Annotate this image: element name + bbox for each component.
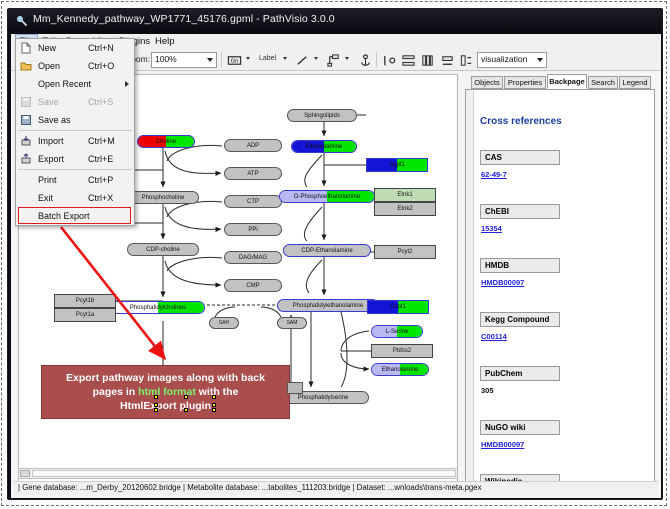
pathway-node-phosphatidylcholines[interactable]: Phosphatidylcholines [111,301,205,314]
pathway-node-pcyt2[interactable]: Pcyt2 [374,245,436,259]
common-width-icon[interactable] [419,52,436,69]
callout-line-2a: pages in [93,386,139,398]
pathway-node-l-serine[interactable]: L-Serine [371,325,423,338]
xref-label-text: HMDB [485,261,509,270]
file-menu-item-accelerator: Ctrl+X [88,193,113,203]
pathway-node-sgpl1[interactable]: Sgpl1 [366,158,428,172]
file-menu-item-accelerator: Ctrl+M [88,136,115,146]
batch-export-highlight [18,207,131,224]
distribute-icon[interactable] [400,52,417,69]
pathway-node-sphingolipids[interactable]: Sphingolipids [287,109,357,122]
pathway-node-label: Ethanolamine [306,144,343,150]
selection-handle[interactable] [184,395,188,399]
pathway-node-cmp[interactable]: CMP [224,279,282,292]
xref-label-cas: CAS [480,150,560,165]
chevron-down-icon [207,58,213,62]
export-icon [20,153,32,165]
pathway-node-dag-mag[interactable]: DAG/MAG [224,251,282,264]
screenshot-root: Mm_Kennedy_pathway_WP1771_45176.gpml - P… [0,0,670,509]
pathway-node-label: Phosphatidylethanolamine [293,303,363,309]
pathway-node-label: Pcyt1a [76,312,94,318]
title-bar: Mm_Kennedy_pathway_WP1771_45176.gpml - P… [8,9,663,33]
file-menu-item-label: Import [38,136,64,146]
selection-handle[interactable] [154,403,158,407]
pathway-node-label: Sgpl1 [389,162,404,168]
backpage-scrollbar[interactable] [466,90,474,488]
pathway-node-label: CDP-Ethanolamine [301,248,352,254]
label-dropdown-icon[interactable] [283,57,287,60]
pathway-node-choline-top[interactable]: Choline [137,135,195,148]
pathway-node-label: Phosphatidylcholines [130,305,186,311]
open-folder-icon [20,60,32,72]
callout-line-3: HtmlExport plugin [120,400,211,412]
pathway-node-adp[interactable]: ADP [224,139,282,152]
file-menu-item-accelerator: Ctrl+E [88,154,113,164]
file-menu-item-open[interactable]: OpenCtrl+O [16,57,134,75]
side-panel: Objects Properties Backpage Search Legen… [462,74,658,490]
pathway-node-ctp[interactable]: CTP [224,195,282,208]
pathway-node-label: PPi [248,227,257,233]
selection-handle[interactable] [154,408,158,412]
file-menu-item-print[interactable]: PrintCtrl+P [16,171,134,189]
canvas-hscrollbar-track[interactable] [32,470,456,477]
annotation-callout: Export pathway images along with back pa… [41,365,290,419]
pathway-node-etnk2[interactable]: Etnk2 [374,202,436,216]
pathway-node-label: Pcyt2 [397,249,412,255]
canvas-hscrollbar-thumb[interactable] [20,470,30,477]
pathway-node-label: Ptdss2 [393,348,411,354]
zoom-value: 100% [155,54,177,64]
file-menu-dropdown[interactable]: NewCtrl+NOpenCtrl+OOpen RecentSaveCtrl+S… [15,38,135,226]
file-menu-item-export[interactable]: ExportCtrl+E [16,150,134,168]
new-file-icon [20,42,32,54]
toolbar-separator-4 [376,52,377,67]
gene-product-dropdown-icon[interactable] [246,57,250,60]
pathway-node-phosphocholine[interactable]: Phosphocholine [127,191,199,204]
pathway-node-label: Phosphocholine [142,195,185,201]
canvas-hscrollbar[interactable] [18,468,458,479]
file-menu-item-save-as[interactable]: Save as [16,111,134,129]
file-menu-item-accelerator: Ctrl+O [88,61,114,71]
pathway-node-label: Cept1 [390,304,406,310]
gene-product-icon[interactable]: Gn [226,52,243,69]
file-menu-item-label: Save [38,97,59,107]
selection-handle[interactable] [154,395,158,399]
toolbar-separator-3 [221,52,222,67]
group-icon[interactable] [458,52,475,69]
anchor-icon[interactable] [357,52,374,69]
xref-label-text: ChEBI [485,207,509,216]
label-button[interactable]: Label [259,55,276,62]
visualization-combo[interactable]: visualization [477,52,547,68]
xref-label-kegg-compound: Kegg Compound [480,312,560,327]
xref-value-hmdb[interactable]: HMDB00097 [481,278,524,287]
pathway-node-label: Phosphatidylserine [298,395,349,401]
pathway-node-label: SAM [287,321,298,326]
svg-text:Gn: Gn [231,59,238,65]
submenu-arrow-icon [125,81,129,87]
callout-line-2b: with the [196,386,239,398]
file-menu-item-label: New [38,43,56,53]
save-as-icon [20,114,32,126]
xref-value-chebi[interactable]: 15354 [481,224,502,233]
chevron-down-icon [537,58,543,62]
callout-anchor-box [287,382,303,394]
file-menu-item-label: Open Recent [38,79,91,89]
interaction-dropdown-icon[interactable] [345,57,349,60]
zoom-combo[interactable]: 100% [151,52,217,68]
xref-label-chebi: ChEBI [480,204,560,219]
xref-label-hmdb: HMDB [480,258,560,273]
pathway-node-label: Choline [156,139,176,145]
file-menu-item-label: Save as [38,115,71,125]
pathvisio-window: Mm_Kennedy_pathway_WP1771_45176.gpml - P… [7,8,663,500]
file-menu-item-label: Open [38,61,60,71]
annotation-callout-text: Export pathway images along with back pa… [61,371,270,413]
file-menu-item-accelerator: Ctrl+S [88,97,113,107]
xref-label-pubchem: PubChem [480,366,560,381]
selection-handle[interactable] [212,408,216,412]
visualization-value: visualization [481,54,527,64]
tab-objects[interactable]: Objects [471,76,503,89]
file-menu-item-label: Exit [38,193,53,203]
pathway-node-label: CDP-choline [146,247,180,253]
status-bar-text: | Gene database: ...m_Derby_20120602.bri… [18,483,482,492]
tab-legend[interactable]: Legend [619,76,651,89]
pathway-node-label: L-Serine [386,329,409,335]
file-menu-item-import[interactable]: ImportCtrl+M [16,132,134,150]
pathway-node-atp[interactable]: ATP [224,167,282,180]
pathway-node-label: Pcyt1b [76,298,94,304]
pathway-node-ethanolamine[interactable]: Ethanolamine [291,140,357,153]
selection-handle[interactable] [212,403,216,407]
file-menu-item-batch-export[interactable]: Batch Export [16,207,134,225]
side-panel-tabstrip: Objects Properties Backpage Search Legen… [465,74,658,89]
cross-references-heading: Cross references [480,116,562,127]
pathway-node-label: DAG/MAG [239,255,267,261]
align-left-icon[interactable] [381,52,398,69]
file-menu-item-open-recent[interactable]: Open Recent [16,75,134,93]
selection-handle[interactable] [212,395,216,399]
line-icon[interactable] [294,52,311,69]
backpage-content: Cross references CAS62-49-7ChEBI15354HMD… [465,89,655,489]
tab-search[interactable]: Search [588,76,618,89]
xref-label-text: Kegg Compound [485,315,549,324]
pathway-node-cdp-ethanolamine[interactable]: CDP-Ethanolamine [283,244,371,257]
pathway-node-ppi[interactable]: PPi [224,223,282,236]
pathway-node-cdp-choline[interactable]: CDP-choline [127,243,199,256]
pathway-node-label: CTP [247,199,259,205]
xref-value-pubchem: 305 [481,386,494,395]
selection-handle[interactable] [184,408,188,412]
save-icon [20,96,32,108]
pathway-node-label: Etnk1 [397,192,412,198]
window-title: Mm_Kennedy_pathway_WP1771_45176.gpml - P… [33,13,335,25]
pathway-node-ethanolamine-right[interactable]: Ethanolamine [371,363,429,376]
pathway-node-label: O-Phosphoethanolamine [294,194,360,200]
callout-line-1: Export pathway images along with back [66,372,265,384]
pathway-node-cept1[interactable]: Cept1 [367,300,429,314]
pathway-node-ptdss2[interactable]: Ptdss2 [371,344,433,358]
line-dropdown-icon[interactable] [314,57,318,60]
tab-backpage[interactable]: Backpage [547,74,587,89]
pathway-node-label: ATP [247,171,258,177]
pathway-node-etnk1[interactable]: Etnk1 [374,188,436,202]
pathvisio-app-icon [16,15,28,27]
tab-properties[interactable]: Properties [504,76,546,89]
interaction-icon[interactable] [325,52,342,69]
pathway-node-o-phosphoethanolamine[interactable]: O-Phosphoethanolamine [279,190,375,203]
pathway-node-sah[interactable]: SAH [209,317,239,329]
file-menu-item-label: Print [38,175,57,185]
pathway-node-label: ADP [247,143,259,149]
status-bar: | Gene database: ...m_Derby_20120602.bri… [14,481,658,495]
xref-label-text: PubChem [485,369,522,378]
pathway-node-label: SAH [219,321,229,326]
xref-value-nugo-wiki[interactable]: HMDB00097 [481,440,524,449]
xref-value-cas[interactable]: 62-49-7 [481,170,507,179]
pathway-node-label: CMP [246,283,259,289]
xref-label-text: NuGO wiki [485,423,525,432]
pathway-node-label: Sphingolipids [304,113,340,119]
xref-label-nugo-wiki: NuGO wiki [480,420,560,435]
file-menu-item-new[interactable]: NewCtrl+N [16,39,134,57]
pathway-node-sam[interactable]: SAM [277,317,307,329]
pathway-node-pcyt1b[interactable]: Pcyt1b [54,294,116,308]
file-menu-item-label: Export [38,154,64,164]
xref-label-text: CAS [485,153,502,162]
pathway-node-label: Ethanolamine [382,367,419,373]
pathway-node-label: Etnk2 [397,206,412,212]
xref-value-kegg-compound[interactable]: C00114 [481,332,507,341]
pathway-node-phosphatidylethanolamine[interactable]: Phosphatidylethanolamine [277,299,379,312]
import-icon [20,135,32,147]
file-menu-item-accelerator: Ctrl+N [88,43,114,53]
file-menu-separator [18,169,132,170]
stack-icon[interactable] [439,52,456,69]
file-menu-item-accelerator: Ctrl+P [88,175,113,185]
file-menu-item-save[interactable]: SaveCtrl+S [16,93,134,111]
file-menu-item-exit[interactable]: ExitCtrl+X [16,189,134,207]
file-menu-items: NewCtrl+NOpenCtrl+OOpen RecentSaveCtrl+S… [16,39,134,225]
menu-help[interactable]: Help [151,35,179,48]
pathway-node-pcyt1a[interactable]: Pcyt1a [54,308,116,322]
file-menu-separator [18,130,132,131]
